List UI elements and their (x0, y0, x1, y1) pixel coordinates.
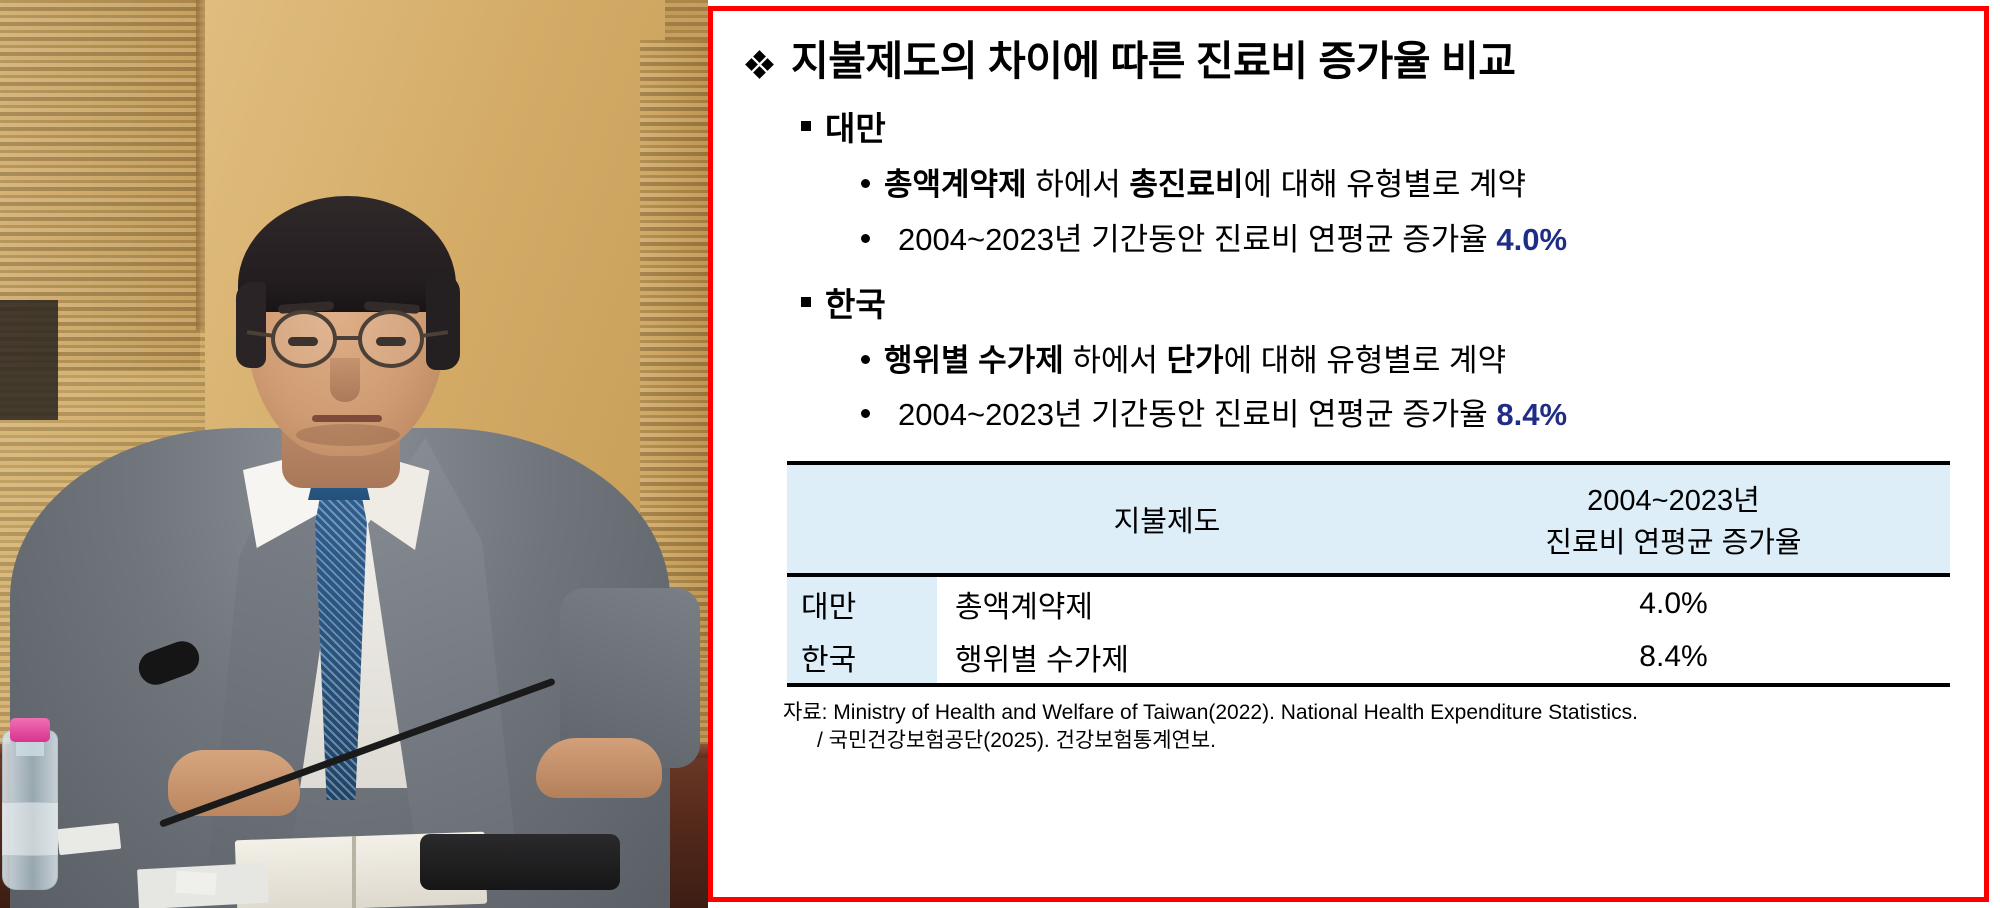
bullet-taiwan-scheme: 총액계약제 하에서 총진료비에 대해 유형별로 계약 (861, 166, 1958, 205)
mouth (312, 415, 382, 422)
water-bottle-label (2, 802, 58, 856)
press-photo (0, 0, 708, 908)
comparison-table: 지불제도 2004~2023년 진료비 연평균 증가율 대만 총액계약제 (787, 461, 1950, 687)
square-bullet-icon (801, 121, 811, 131)
cell-country: 대만 (787, 575, 937, 630)
rate-value-korea: 8.4% (1496, 397, 1567, 432)
presentation-slide-pane: 지불제도의 차이에 따른 진료비 증가율 비교 대만 총액계약제 하에서 총진료… (708, 0, 2000, 908)
hair-side-left (236, 282, 266, 368)
table-row: 대만 총액계약제 4.0% (787, 575, 1950, 630)
bullet-part: 2004~2023년 기간동안 진료비 연평균 증가율 (898, 397, 1496, 432)
microphone-base (420, 834, 620, 890)
table-row: 한국 행위별 수가제 8.4% (787, 630, 1950, 685)
bullet-text: 행위별 수가제 하에서 단가에 대해 유형별로 계약 (884, 342, 1506, 381)
dot-bullet-icon (861, 355, 870, 364)
bullet-text: 총액계약제 하에서 총진료비에 대해 유형별로 계약 (884, 166, 1526, 205)
footnote-line-2: / 국민건강보험공단(2025). 건강보험통계연보. (817, 727, 1958, 755)
section-heading-taiwan: 대만 (801, 102, 1958, 150)
bullet-part: 하에서 (1027, 167, 1130, 202)
bullet-part: 에 대해 유형별로 계약 (1224, 343, 1507, 378)
comparison-table-wrapper: 지불제도 2004~2023년 진료비 연평균 증가율 대만 총액계약제 (787, 461, 1950, 687)
bullet-part: 행위별 수가제 (884, 343, 1064, 378)
water-bottle-cap (10, 718, 50, 742)
cell-rate: 4.0% (1397, 575, 1950, 630)
cell-scheme: 행위별 수가제 (937, 630, 1397, 685)
bullet-part: 단가 (1167, 343, 1224, 378)
bullet-part: 총액계약제 (884, 167, 1027, 202)
table-header-scheme: 지불제도 (937, 463, 1397, 575)
dot-bullet-icon (861, 409, 870, 418)
page-title: 지불제도의 차이에 따른 진료비 증가율 비교 (791, 39, 1515, 84)
screenshot-root: 지불제도의 차이에 따른 진료비 증가율 비교 대만 총액계약제 하에서 총진료… (0, 0, 2000, 908)
dot-bullet-icon (861, 179, 870, 188)
bullet-text: 2004~2023년 기간동안 진료비 연평균 증가율 4.0% (898, 221, 1567, 260)
hair-side-right (426, 274, 460, 370)
section-heading-label: 대만 (825, 102, 886, 150)
desk-paper-3 (175, 871, 216, 896)
cell-country: 한국 (787, 630, 937, 685)
slide-content: 지불제도의 차이에 따른 진료비 증가율 비교 대만 총액계약제 하에서 총진료… (713, 11, 1984, 897)
bullet-korea-rate: 2004~2023년 기간동안 진료비 연평균 증가율 8.4% (861, 396, 1958, 435)
cell-rate: 8.4% (1397, 630, 1950, 685)
table-header-rate-line2: 진료비 연평균 증가율 (1397, 519, 1950, 561)
hair (238, 196, 456, 312)
slide-title-row: 지불제도의 차이에 따른 진료비 증가율 비교 (747, 39, 1958, 84)
book-spine (352, 836, 356, 908)
bullet-part: 총진료비 (1129, 167, 1243, 202)
cell-scheme: 총액계약제 (937, 575, 1397, 630)
bullet-taiwan-rate: 2004~2023년 기간동안 진료비 연평균 증가율 4.0% (861, 221, 1958, 260)
section-heading-label: 한국 (825, 278, 886, 326)
table-header-rate: 2004~2023년 진료비 연평균 증가율 (1397, 463, 1950, 575)
bullet-korea-scheme: 행위별 수가제 하에서 단가에 대해 유형별로 계약 (861, 342, 1958, 381)
person-figure (0, 148, 708, 908)
section-heading-korea: 한국 (801, 278, 1958, 326)
bullet-text: 2004~2023년 기간동안 진료비 연평균 증가율 8.4% (898, 396, 1567, 435)
table-header-row: 지불제도 2004~2023년 진료비 연평균 증가율 (787, 463, 1950, 575)
nose (330, 358, 360, 402)
chin-shadow (296, 424, 400, 446)
source-footnote: 자료: Ministry of Health and Welfare of Ta… (783, 699, 1958, 756)
bullet-part: 에 대해 유형별로 계약 (1244, 167, 1527, 202)
four-diamond-bullet-icon (747, 51, 773, 83)
table-header-rate-line1: 2004~2023년 (1397, 477, 1950, 519)
slide-red-border-frame: 지불제도의 차이에 따른 진료비 증가율 비교 대만 총액계약제 하에서 총진료… (708, 6, 1989, 902)
footnote-line-1: 자료: Ministry of Health and Welfare of Ta… (783, 699, 1958, 727)
rate-value-taiwan: 4.0% (1496, 222, 1567, 257)
eyeglasses-bridge (336, 336, 360, 340)
square-bullet-icon (801, 297, 811, 307)
bullet-part: 2004~2023년 기간동안 진료비 연평균 증가율 (898, 222, 1496, 257)
hand-right (536, 738, 662, 798)
dot-bullet-icon (861, 234, 870, 243)
eyeglasses-lens-right (358, 310, 424, 368)
table-header-blank (787, 463, 937, 575)
bullet-part: 하에서 (1064, 343, 1167, 378)
eyeglasses-lens-left (271, 310, 337, 368)
